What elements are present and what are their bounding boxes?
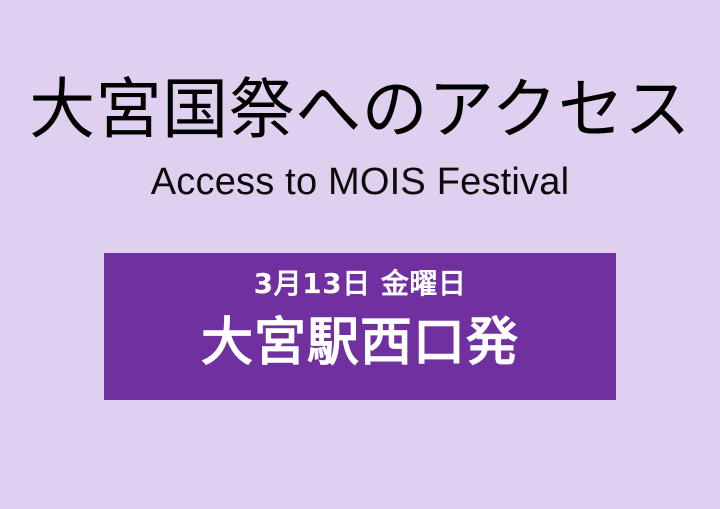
departure-location-text: 大宮駅西口発 — [201, 301, 519, 373]
page-title: 大宮国祭へのアクセス — [0, 72, 720, 147]
page-subtitle: Access to MOIS Festival — [0, 147, 720, 204]
slide-canvas: 大宮国祭へのアクセス Access to MOIS Festival 3月13日… — [0, 0, 720, 509]
title-block: 大宮国祭へのアクセス Access to MOIS Festival — [0, 72, 720, 204]
departure-callout-panel: 3月13日 金曜日 大宮駅西口発 — [104, 253, 616, 400]
departure-date-text: 3月13日 金曜日 — [254, 267, 467, 301]
